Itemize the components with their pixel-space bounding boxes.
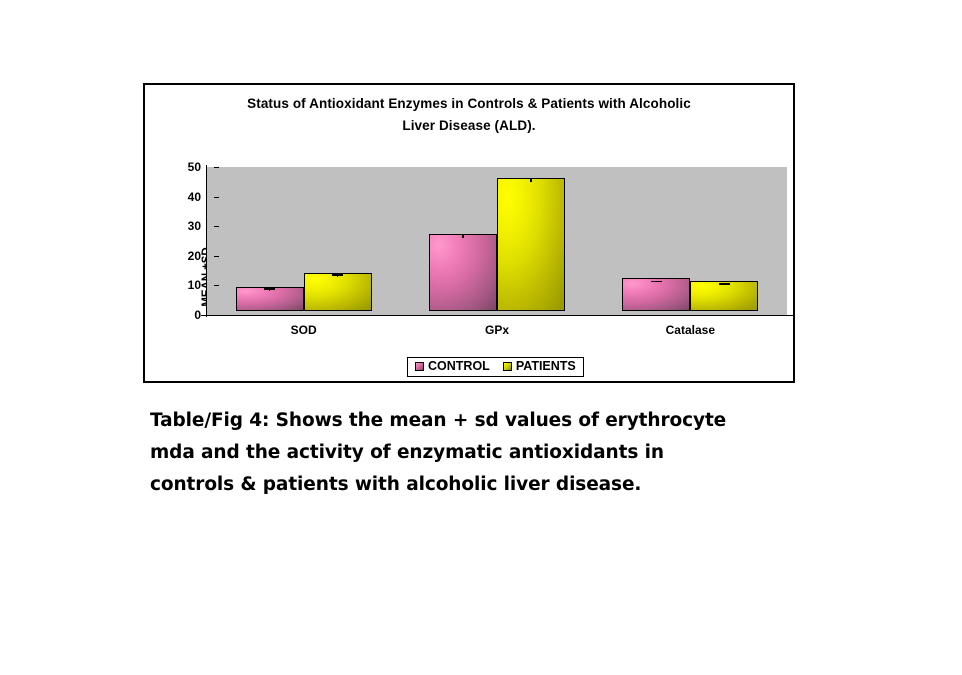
category-label-sod: SOD bbox=[244, 323, 364, 337]
y-tick-label-30: 30 bbox=[161, 220, 201, 232]
error-bar-cap-catalase-control bbox=[651, 281, 662, 283]
y-tick-label-20: 20 bbox=[161, 250, 201, 262]
x-axis-line bbox=[201, 315, 793, 316]
y-tick-mark-20 bbox=[214, 256, 219, 257]
legend-entry-patients: PATIENTS bbox=[503, 360, 576, 373]
y-axis-tick-labels: 01020304050 bbox=[153, 85, 201, 381]
legend-swatch-control-icon bbox=[415, 362, 424, 371]
bar-catalase-control bbox=[622, 278, 690, 311]
category-label-gpx: GPx bbox=[437, 323, 557, 337]
y-tick-label-0: 0 bbox=[161, 309, 201, 321]
y-axis-line bbox=[206, 165, 207, 317]
bar-gpx-control bbox=[429, 234, 497, 311]
legend-swatch-patients-icon bbox=[503, 362, 512, 371]
error-bar-cap-gpx-control bbox=[458, 234, 469, 236]
bar-sod-patients bbox=[304, 273, 372, 311]
bar-catalase-patients bbox=[690, 281, 758, 311]
y-tick-label-40: 40 bbox=[161, 191, 201, 203]
y-tick-mark-10 bbox=[214, 285, 219, 286]
y-tick-mark-50 bbox=[214, 167, 219, 168]
legend-label-control: CONTROL bbox=[428, 360, 490, 373]
y-tick-mark-40 bbox=[214, 197, 219, 198]
y-tick-mark-30 bbox=[214, 226, 219, 227]
legend-entry-control: CONTROL bbox=[415, 360, 490, 373]
y-tick-label-10: 10 bbox=[161, 279, 201, 291]
chart-title: Status of Antioxidant Enzymes in Control… bbox=[145, 93, 793, 137]
chart-title-line-1: Status of Antioxidant Enzymes in Control… bbox=[145, 93, 793, 115]
figure-caption-line-1: Table/Fig 4: Shows the mean + sd values … bbox=[150, 405, 830, 437]
chart-legend: CONTROL PATIENTS bbox=[407, 357, 584, 377]
error-bar-cap-gpx-patients bbox=[526, 178, 537, 180]
chart-figure: Status of Antioxidant Enzymes in Control… bbox=[143, 83, 795, 383]
figure-caption: Table/Fig 4: Shows the mean + sd values … bbox=[150, 405, 830, 501]
chart-title-line-2: Liver Disease (ALD). bbox=[145, 115, 793, 137]
figure-caption-line-3: controls & patients with alcoholic liver… bbox=[150, 469, 830, 501]
legend-label-patients: PATIENTS bbox=[516, 360, 576, 373]
error-bar-cap-sod-patients bbox=[332, 274, 343, 276]
figure-caption-line-2: mda and the activity of enzymatic antiox… bbox=[150, 437, 830, 469]
y-tick-label-50: 50 bbox=[161, 161, 201, 173]
category-label-catalase: Catalase bbox=[630, 323, 750, 337]
error-bar-cap-sod-control bbox=[264, 288, 275, 290]
y-tick-mark-0 bbox=[214, 315, 219, 316]
error-bar-cap-catalase-patients bbox=[719, 283, 730, 285]
bar-gpx-patients bbox=[497, 178, 565, 311]
